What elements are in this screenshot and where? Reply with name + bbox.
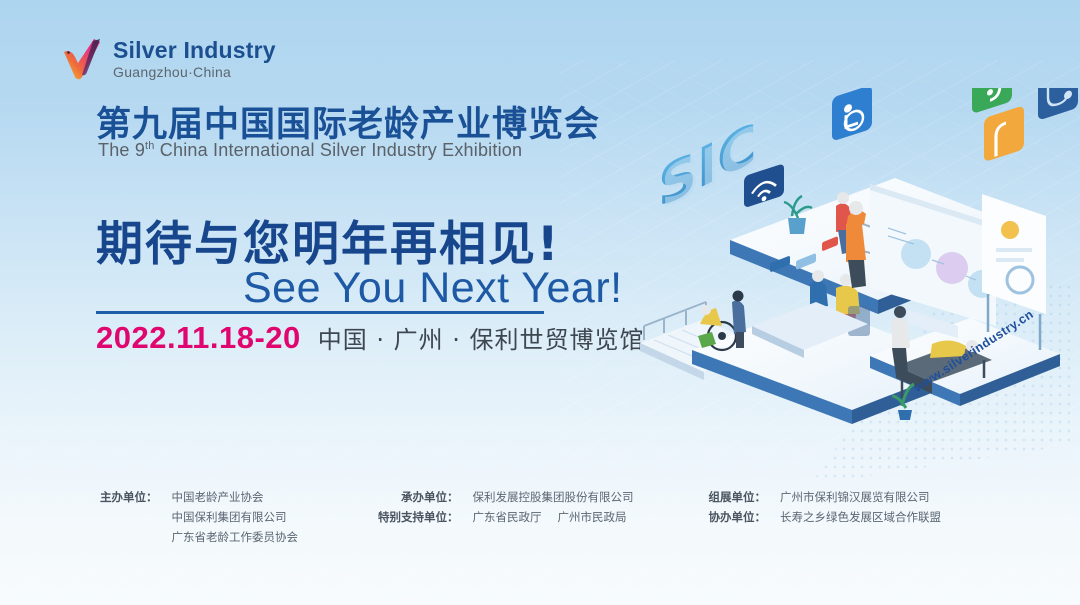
footer-value: 广东省民政厅	[473, 508, 542, 528]
divider-rule	[96, 311, 544, 314]
title-en-prefix: The 9	[98, 140, 145, 160]
footer-organizers: 主办单位： 中国老龄产业协会 中国保利集团有限公司 广东省老龄工作委员协会 承办…	[0, 488, 1080, 547]
brand-logo[interactable]: Silver Industry Guangzhou·China	[62, 36, 276, 82]
footer-label-group: 承办单位： 特别支持单位：	[378, 488, 459, 547]
event-date-venue-row: 2022.11.18-20 中国 · 广州 · 保利世贸博览馆	[96, 320, 645, 356]
brand-logo-subtitle: Guangzhou·China	[113, 65, 276, 79]
slogan-english: See You Next Year!	[243, 264, 623, 313]
title-en-ordinal-suffix: th	[145, 140, 155, 152]
footer-value: 中国保利集团有限公司	[172, 508, 299, 528]
footer-value: 广东省老龄工作委员协会	[172, 528, 299, 548]
footer-label: 承办单位：	[378, 488, 459, 508]
sic-monogram: SIC SIC	[658, 109, 760, 224]
footer-value: 保利发展控股集团股份有限公司	[473, 488, 634, 508]
footer-label: 特别支持单位：	[378, 508, 459, 528]
svg-text:SIC: SIC	[661, 112, 760, 222]
footer-value: 广州市民政局	[558, 508, 627, 528]
footer-value-group: 中国老龄产业协会 中国保利集团有限公司 广东省老龄工作委员协会	[166, 488, 299, 547]
exhibition-promo-banner: Silver Industry Guangzhou·China 第九届中国国际老…	[0, 0, 1080, 605]
wheelchair-accessible-icon	[832, 88, 872, 142]
footer-value: 中国老龄产业协会	[172, 488, 299, 508]
title-en-rest: China International Silver Industry Exhi…	[155, 140, 523, 160]
footer-label: 主办单位：	[100, 488, 158, 508]
silver-industry-check-bird-mark-icon	[62, 36, 104, 82]
footer-label: 组展单位：	[709, 488, 767, 508]
footer-value-group: 广州市保利锦汉展览有限公司 长寿之乡绿色发展区域合作联盟	[774, 488, 941, 547]
brand-logo-title: Silver Industry	[113, 39, 276, 62]
footer-label: 协办单位：	[709, 508, 767, 528]
brand-logo-text: Silver Industry Guangzhou·China	[113, 39, 276, 79]
footer-value-group: 保利发展控股集团股份有限公司 广东省民政厅广州市民政局	[467, 488, 634, 547]
footer-column-organizers: 主办单位： 中国老龄产业协会 中国保利集团有限公司 广东省老龄工作委员协会	[100, 488, 298, 547]
footer-label-group: 组展单位： 协办单位：	[709, 488, 767, 547]
footer-value: 长寿之乡绿色发展区域合作联盟	[780, 508, 941, 528]
event-venue: 中国 · 广州 · 保利世贸博览馆	[318, 320, 645, 355]
walking-cane-icon	[984, 105, 1024, 162]
footer-column-coorganizers: 组展单位： 协办单位： 广州市保利锦汉展览有限公司 长寿之乡绿色发展区域合作联盟	[709, 488, 942, 547]
isometric-exhibition-illustration: SIC SIC	[640, 88, 1080, 448]
stethoscope-icon	[1038, 88, 1078, 121]
footer-label-group: 主办单位：	[100, 488, 158, 547]
exhibition-title-english: The 9th China International Silver Indus…	[98, 140, 522, 161]
footer-column-undertakers: 承办单位： 特别支持单位： 保利发展控股集团股份有限公司 广东省民政厅广州市民政…	[378, 488, 634, 547]
event-date: 2022.11.18-20	[96, 320, 301, 356]
footer-value-row: 广东省民政厅广州市民政局	[473, 508, 634, 528]
footer-value: 广州市保利锦汉展览有限公司	[780, 488, 941, 508]
hearing-aid-icon	[972, 88, 1012, 114]
